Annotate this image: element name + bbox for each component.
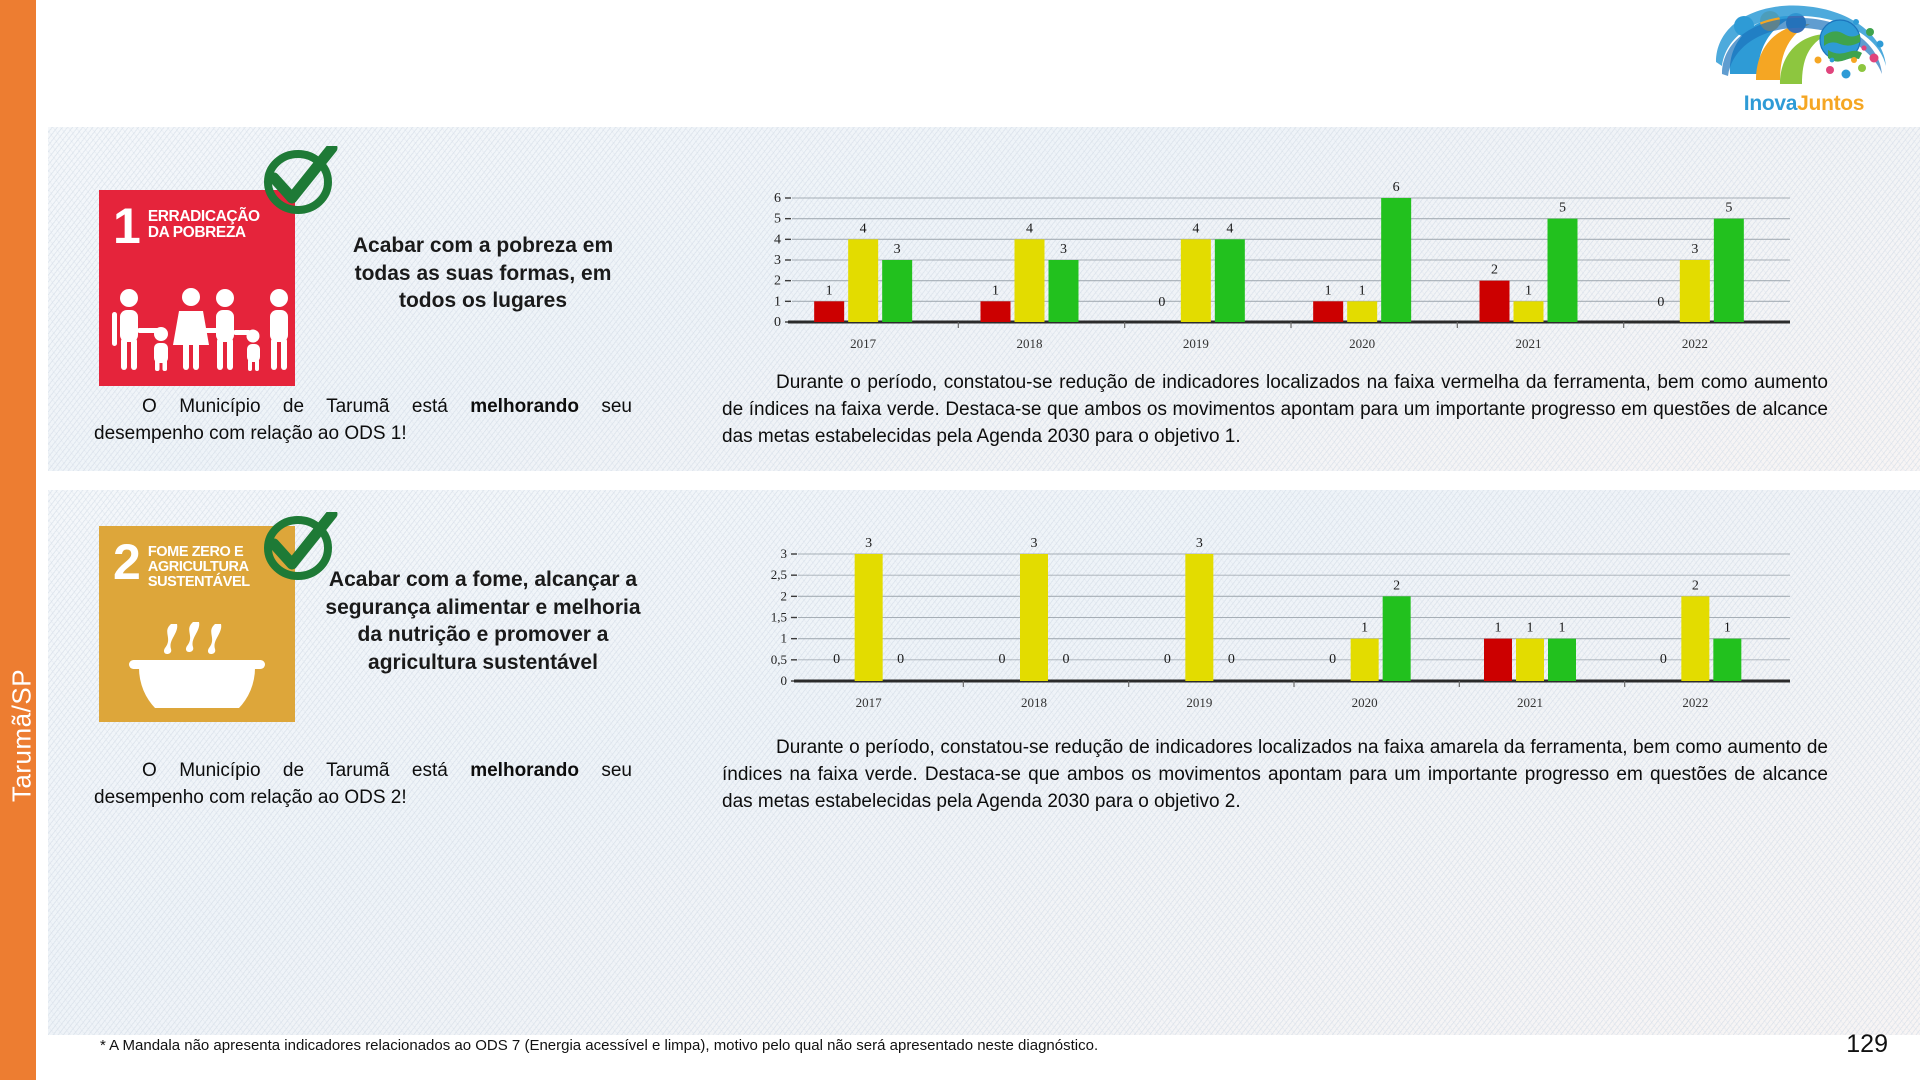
- svg-text:1: 1: [1724, 621, 1731, 636]
- svg-text:0: 0: [1660, 652, 1667, 667]
- svg-text:1: 1: [992, 283, 999, 298]
- chart-ods-1-svg: 0123456143201714320180442019116202021520…: [736, 172, 1836, 362]
- svg-text:5: 5: [1559, 201, 1566, 216]
- chart-ods-2-svg: 00,511,522,53030201703020180302019012202…: [736, 528, 1836, 723]
- family-people-icon: [99, 286, 295, 372]
- svg-text:6: 6: [1393, 180, 1400, 195]
- svg-text:0: 0: [781, 673, 788, 688]
- sdg-1-headline: Acabar com a pobreza em todas as suas fo…: [338, 232, 628, 315]
- svg-text:1,5: 1,5: [771, 610, 787, 625]
- svg-text:0: 0: [1657, 295, 1664, 310]
- svg-text:2020: 2020: [1352, 695, 1378, 710]
- svg-text:1: 1: [781, 631, 788, 646]
- svg-text:0,5: 0,5: [771, 652, 787, 667]
- sdg-1-left-text-bold: melhorando: [470, 396, 579, 417]
- footer-note: * A Mandala não apresenta indicadores re…: [100, 1037, 1500, 1055]
- svg-text:0: 0: [1228, 652, 1235, 667]
- svg-text:0: 0: [1329, 652, 1336, 667]
- svg-text:4: 4: [860, 221, 867, 236]
- svg-text:0: 0: [999, 652, 1006, 667]
- logo-wordmark: InovaJuntos: [1704, 92, 1904, 116]
- svg-text:4: 4: [1226, 221, 1233, 236]
- svg-text:2019: 2019: [1186, 695, 1212, 710]
- svg-text:2021: 2021: [1516, 336, 1542, 351]
- svg-text:0: 0: [774, 315, 781, 330]
- svg-text:3: 3: [781, 546, 788, 561]
- svg-text:2017: 2017: [856, 695, 883, 710]
- svg-text:0: 0: [1158, 295, 1165, 310]
- svg-text:3: 3: [1060, 242, 1067, 257]
- svg-text:0: 0: [833, 652, 840, 667]
- sdg-2-right-paragraph: Durante o período, constatou-se redução …: [722, 735, 1828, 816]
- svg-text:1: 1: [826, 283, 833, 298]
- sdg-2-headline: Acabar com a fome, alcançar a segurança …: [318, 566, 648, 677]
- chart-ods-2: 00,511,522,53030201703020180302019012202…: [736, 528, 1836, 723]
- svg-text:4: 4: [1192, 221, 1199, 236]
- green-check-icon-1: [258, 146, 338, 224]
- svg-text:2018: 2018: [1021, 695, 1047, 710]
- svg-text:5: 5: [774, 212, 781, 227]
- svg-text:1: 1: [1325, 283, 1332, 298]
- svg-text:2021: 2021: [1517, 695, 1543, 710]
- steaming-bowl-icon: [99, 622, 295, 708]
- svg-text:2022: 2022: [1682, 695, 1708, 710]
- svg-text:3: 3: [774, 253, 781, 268]
- svg-text:3: 3: [865, 536, 872, 551]
- section-divider: [48, 471, 1920, 491]
- svg-text:2: 2: [1692, 578, 1699, 593]
- svg-text:3: 3: [1691, 242, 1698, 257]
- left-color-spine: Tarumã/SP: [0, 0, 36, 1080]
- svg-text:0: 0: [1164, 652, 1171, 667]
- sdg-number-1: 1: [113, 206, 139, 247]
- svg-text:2: 2: [1491, 263, 1498, 278]
- sdg-number-2: 2: [113, 542, 139, 583]
- page-number: 129: [1846, 1030, 1888, 1059]
- sdg-1-left-paragraph: O Município de Tarumã está melhorando se…: [94, 394, 632, 448]
- svg-text:2017: 2017: [850, 336, 877, 351]
- inova-juntos-logo: InovaJuntos: [1704, 4, 1904, 118]
- svg-text:1: 1: [1359, 283, 1366, 298]
- svg-text:6: 6: [774, 191, 781, 206]
- svg-text:1: 1: [774, 294, 781, 309]
- svg-text:1: 1: [1495, 621, 1502, 636]
- svg-text:0: 0: [1063, 652, 1070, 667]
- globe-people-icon: [1704, 4, 1904, 96]
- svg-text:2: 2: [781, 588, 788, 603]
- svg-text:2018: 2018: [1017, 336, 1043, 351]
- sdg-2-left-paragraph: O Município de Tarumã está melhorando se…: [94, 758, 632, 812]
- svg-text:2019: 2019: [1183, 336, 1209, 351]
- svg-text:2: 2: [774, 274, 781, 289]
- svg-text:5: 5: [1725, 201, 1732, 216]
- svg-text:2022: 2022: [1682, 336, 1708, 351]
- sdg-title-2: FOME ZERO E AGRICULTURA SUSTENTÁVEL: [148, 542, 250, 590]
- sdg-1-right-paragraph: Durante o período, constatou-se redução …: [722, 370, 1828, 451]
- svg-text:0: 0: [897, 652, 904, 667]
- svg-text:2,5: 2,5: [771, 567, 787, 582]
- sdg-1-left-text-before: O Município de Tarumã está: [142, 396, 470, 417]
- svg-text:4: 4: [1026, 221, 1033, 236]
- municipality-label: Tarumã/SP: [7, 636, 38, 836]
- svg-text:3: 3: [1031, 536, 1038, 551]
- svg-text:2: 2: [1393, 578, 1400, 593]
- svg-text:1: 1: [1559, 621, 1566, 636]
- sdg-title-1: ERRADICAÇÃO DA POBREZA: [148, 206, 260, 241]
- sdg-2-left-text-before: O Município de Tarumã está: [142, 760, 470, 781]
- logo-word-juntos: Juntos: [1797, 92, 1864, 115]
- sdg-2-left-text-bold: melhorando: [470, 760, 579, 781]
- chart-ods-1: 0123456143201714320180442019116202021520…: [736, 172, 1836, 362]
- svg-text:1: 1: [1361, 621, 1368, 636]
- svg-text:1: 1: [1527, 621, 1534, 636]
- svg-text:3: 3: [1196, 536, 1203, 551]
- logo-word-inova: Inova: [1744, 92, 1797, 115]
- svg-text:1: 1: [1525, 283, 1532, 298]
- svg-text:3: 3: [894, 242, 901, 257]
- page-header: InovaJuntos: [36, 0, 1920, 122]
- svg-text:2020: 2020: [1349, 336, 1375, 351]
- svg-text:4: 4: [774, 232, 781, 247]
